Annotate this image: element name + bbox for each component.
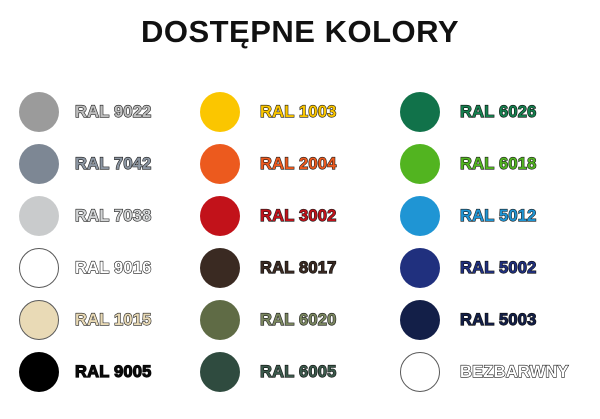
color-item: RAL 6020	[186, 294, 386, 346]
color-item: RAL 3002	[186, 190, 386, 242]
color-item: RAL 6018	[386, 138, 600, 190]
color-swatch	[19, 248, 59, 288]
color-item: RAL 5002	[386, 242, 600, 294]
color-item: RAL 2004	[186, 138, 386, 190]
color-item: RAL 7038	[0, 190, 186, 242]
color-label: RAL 1003	[260, 103, 337, 122]
color-item: RAL 5012	[386, 190, 600, 242]
color-label: RAL 6026	[460, 103, 537, 122]
color-item: RAL 9016	[0, 242, 186, 294]
color-item: RAL 8017	[186, 242, 386, 294]
color-item: RAL 1003	[186, 86, 386, 138]
color-swatch	[19, 300, 59, 340]
color-swatch	[19, 352, 59, 392]
color-swatch	[19, 196, 59, 236]
color-label: RAL 9016	[75, 259, 152, 278]
color-label: RAL 2004	[260, 155, 337, 174]
color-swatch	[200, 300, 240, 340]
color-swatch	[19, 144, 59, 184]
color-item: RAL 7042	[0, 138, 186, 190]
color-swatch	[400, 352, 440, 392]
color-swatch	[200, 144, 240, 184]
color-label: RAL 5003	[460, 311, 537, 330]
color-label: BEZBARWNY	[460, 363, 569, 382]
color-label: RAL 9005	[75, 363, 152, 382]
color-item: RAL 6005	[186, 346, 386, 398]
color-swatch	[400, 92, 440, 132]
color-swatch	[200, 92, 240, 132]
color-swatch	[200, 248, 240, 288]
color-swatch	[400, 144, 440, 184]
color-label: RAL 7042	[75, 155, 152, 174]
color-item: RAL 9022	[0, 86, 186, 138]
color-label: RAL 6020	[260, 311, 337, 330]
color-item: RAL 6026	[386, 86, 600, 138]
color-swatch	[200, 196, 240, 236]
color-item: BEZBARWNY	[386, 346, 600, 398]
color-swatch	[400, 300, 440, 340]
page-title: DOSTĘPNE KOLORY	[0, 14, 600, 50]
color-item: RAL 9005	[0, 346, 186, 398]
color-swatch-grid: RAL 9022RAL 1003RAL 6026RAL 7042RAL 2004…	[0, 86, 600, 419]
color-label: RAL 5012	[460, 207, 537, 226]
color-label: RAL 3002	[260, 207, 337, 226]
color-label: RAL 1015	[75, 311, 152, 330]
color-label: RAL 9022	[75, 103, 152, 122]
color-label: RAL 8017	[260, 259, 337, 278]
color-item: RAL 1015	[0, 294, 186, 346]
color-label: RAL 6018	[460, 155, 537, 174]
color-label: RAL 6005	[260, 363, 337, 382]
color-label: RAL 7038	[75, 207, 152, 226]
color-swatch	[400, 196, 440, 236]
color-item: RAL 5003	[386, 294, 600, 346]
color-swatch	[400, 248, 440, 288]
color-label: RAL 5002	[460, 259, 537, 278]
color-swatch	[19, 92, 59, 132]
color-swatch	[200, 352, 240, 392]
